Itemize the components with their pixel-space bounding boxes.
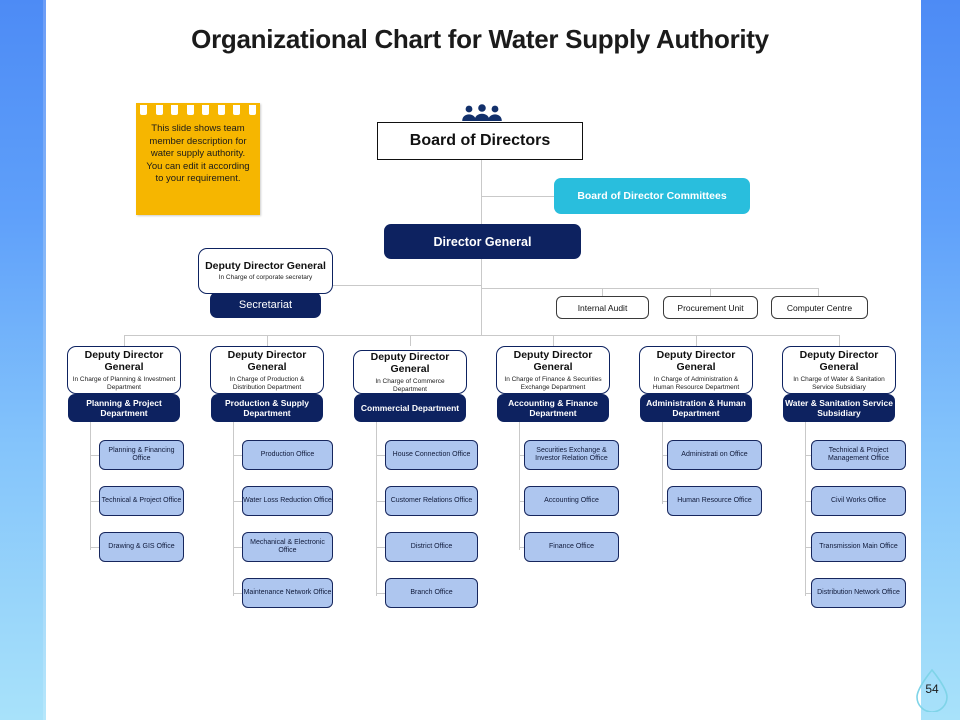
slide-canvas: Organizational Chart for Water Supply Au… bbox=[0, 0, 960, 720]
ddg-title-col-5: Deputy Director General bbox=[644, 349, 748, 374]
connector-col-drop-1 bbox=[124, 335, 125, 346]
connector-col-drop-6 bbox=[839, 335, 840, 346]
connector-dg-trunk bbox=[481, 259, 482, 335]
ddg-secretariat-node[interactable]: Deputy Director General In Charge of cor… bbox=[198, 248, 333, 294]
board-of-directors-node[interactable]: Board of Directors bbox=[377, 122, 583, 160]
left-gradient-bar bbox=[0, 0, 43, 720]
ddg-title-col-2: Deputy Director General bbox=[215, 349, 319, 374]
people-group-icon bbox=[460, 104, 504, 122]
connector-spine-col-3 bbox=[376, 422, 377, 596]
office-label: Branch Office bbox=[410, 589, 452, 598]
board-committees-label: Board of Director Committees bbox=[577, 190, 726, 202]
unit-procurement[interactable]: Procurement Unit bbox=[663, 296, 758, 319]
dept-banner-col-2[interactable]: Production & Supply Department bbox=[211, 394, 323, 422]
secretariat-node[interactable]: Secretariat bbox=[210, 292, 321, 318]
office-label: Civil Works Office bbox=[831, 497, 886, 506]
connector-dg-to-units-bus bbox=[481, 288, 819, 289]
office-label: Mechanical & Electronic Office bbox=[243, 539, 332, 556]
office-label: Technical & Project Office bbox=[102, 497, 182, 506]
office-label: Human Resource Office bbox=[677, 497, 752, 506]
ddg-card-col-3[interactable]: Deputy Director General In Charge of Com… bbox=[353, 350, 467, 394]
connector-spine-col-2 bbox=[233, 422, 234, 596]
board-of-directors-label: Board of Directors bbox=[410, 132, 550, 150]
sticky-note-teeth bbox=[136, 103, 260, 117]
office-label: Planning & Financing Office bbox=[100, 447, 183, 464]
unit-internal-audit[interactable]: Internal Audit bbox=[556, 296, 649, 319]
ddg-card-col-1[interactable]: Deputy Director General In Charge of Pla… bbox=[67, 346, 181, 394]
ddg-title-col-3: Deputy Director General bbox=[358, 351, 462, 376]
office-label: Accounting Office bbox=[544, 497, 599, 506]
connector-board-to-dg bbox=[481, 160, 482, 224]
director-general-label: Director General bbox=[434, 235, 532, 249]
ddg-subtitle-col-1: In Charge of Planning & Investment Depar… bbox=[72, 376, 176, 392]
office-label: Technical & Project Management Office bbox=[812, 447, 905, 464]
ddg-card-col-6[interactable]: Deputy Director General In Charge of Wat… bbox=[782, 346, 896, 394]
connector-unit-drop-3 bbox=[818, 288, 819, 296]
ddg-title-col-6: Deputy Director General bbox=[787, 349, 891, 374]
office-box[interactable]: District Office bbox=[385, 532, 478, 562]
dept-banner-col-6[interactable]: Water & Sanitation Service Subsidiary bbox=[783, 394, 895, 422]
dept-label-col-5: Administration & Human Department bbox=[640, 398, 752, 419]
ddg-card-col-4[interactable]: Deputy Director General In Charge of Fin… bbox=[496, 346, 610, 394]
office-label: Transmission Main Office bbox=[819, 543, 898, 552]
connector-spine-col-1 bbox=[90, 422, 91, 550]
connector-col-drop-5 bbox=[696, 335, 697, 346]
office-box[interactable]: Planning & Financing Office bbox=[99, 440, 184, 470]
office-label: Customer Relations Office bbox=[391, 497, 473, 506]
sticky-note: This slide shows team member description… bbox=[136, 103, 260, 215]
office-label: House Connection Office bbox=[393, 451, 471, 460]
office-box[interactable]: Branch Office bbox=[385, 578, 478, 608]
office-box[interactable]: Drawing & GIS Office bbox=[99, 532, 184, 562]
ddg-card-col-2[interactable]: Deputy Director General In Charge of Pro… bbox=[210, 346, 324, 394]
sticky-note-text: This slide shows team member description… bbox=[142, 123, 254, 186]
office-box[interactable]: Water Loss Reduction Office bbox=[242, 486, 333, 516]
unit-internal-audit-label: Internal Audit bbox=[578, 303, 628, 313]
ddg-subtitle-col-5: In Charge of Administration & Human Reso… bbox=[644, 376, 748, 392]
office-box[interactable]: Finance Office bbox=[524, 532, 619, 562]
dept-banner-col-3[interactable]: Commercial Department bbox=[354, 394, 466, 422]
office-box[interactable]: Customer Relations Office bbox=[385, 486, 478, 516]
office-label: Securities Exchange & Investor Relation … bbox=[525, 447, 618, 464]
office-box[interactable]: Accounting Office bbox=[524, 486, 619, 516]
dept-banner-col-1[interactable]: Planning & Project Department bbox=[68, 394, 180, 422]
office-box[interactable]: House Connection Office bbox=[385, 440, 478, 470]
office-label: Water Loss Reduction Office bbox=[243, 497, 332, 506]
dept-banner-col-4[interactable]: Accounting & Finance Department bbox=[497, 394, 609, 422]
ddg-title-col-1: Deputy Director General bbox=[72, 349, 176, 374]
office-box[interactable]: Human Resource Office bbox=[667, 486, 762, 516]
office-box[interactable]: Administrati on Office bbox=[667, 440, 762, 470]
connector-col-drop-2 bbox=[267, 335, 268, 346]
office-box[interactable]: Civil Works Office bbox=[811, 486, 906, 516]
dept-label-col-6: Water & Sanitation Service Subsidiary bbox=[783, 398, 895, 419]
office-label: Production Office bbox=[261, 451, 315, 460]
ddg-title-col-4: Deputy Director General bbox=[501, 349, 605, 374]
office-box[interactable]: Transmission Main Office bbox=[811, 532, 906, 562]
unit-procurement-label: Procurement Unit bbox=[677, 303, 743, 313]
secretariat-label: Secretariat bbox=[239, 300, 292, 311]
office-label: Distribution Network Office bbox=[817, 589, 900, 598]
office-label: District Office bbox=[411, 543, 453, 552]
ddg-subtitle-col-3: In Charge of Commerce Department bbox=[358, 378, 462, 394]
office-box[interactable]: Securities Exchange & Investor Relation … bbox=[524, 440, 619, 470]
dept-label-col-4: Accounting & Finance Department bbox=[497, 398, 609, 419]
office-label: Administrati on Office bbox=[681, 451, 747, 460]
office-label: Drawing & GIS Office bbox=[108, 543, 174, 552]
office-box[interactable]: Maintenance Network Office bbox=[242, 578, 333, 608]
dept-label-col-3: Commercial Department bbox=[361, 403, 459, 414]
board-committees-node[interactable]: Board of Director Committees bbox=[554, 178, 750, 214]
connector-spine-col-5 bbox=[662, 422, 663, 504]
left-gradient-bar-inner bbox=[43, 0, 46, 720]
ddg-subtitle-col-6: In Charge of Water & Sanitation Service … bbox=[787, 376, 891, 392]
page-number: 54 bbox=[913, 682, 951, 696]
dept-label-col-1: Planning & Project Department bbox=[68, 398, 180, 419]
connector-dg-to-secretariat bbox=[333, 285, 481, 286]
office-label: Maintenance Network Office bbox=[244, 589, 332, 598]
ddg-card-col-5[interactable]: Deputy Director General In Charge of Adm… bbox=[639, 346, 753, 394]
connector-unit-drop-1 bbox=[602, 288, 603, 296]
connector-columns-bus bbox=[124, 335, 840, 336]
office-box[interactable]: Technical & Project Office bbox=[99, 486, 184, 516]
page-title: Organizational Chart for Water Supply Au… bbox=[60, 24, 900, 55]
connector-spine-col-4 bbox=[519, 422, 520, 550]
connector-board-to-committee bbox=[481, 196, 554, 197]
connector-unit-drop-2 bbox=[710, 288, 711, 296]
dept-banner-col-5[interactable]: Administration & Human Department bbox=[640, 394, 752, 422]
right-gradient-bar bbox=[921, 0, 960, 720]
office-box[interactable]: Mechanical & Electronic Office bbox=[242, 532, 333, 562]
office-box[interactable]: Production Office bbox=[242, 440, 333, 470]
office-box[interactable]: Technical & Project Management Office bbox=[811, 440, 906, 470]
ddg-subtitle-col-4: In Charge of Finance & Securities Exchan… bbox=[501, 376, 605, 392]
ddg-subtitle-col-2: In Charge of Production & Distribution D… bbox=[215, 376, 319, 392]
ddg-secretariat-title: Deputy Director General bbox=[205, 260, 326, 273]
director-general-node[interactable]: Director General bbox=[384, 224, 581, 259]
dept-label-col-2: Production & Supply Department bbox=[211, 398, 323, 419]
office-box[interactable]: Distribution Network Office bbox=[811, 578, 906, 608]
connector-spine-col-6 bbox=[805, 422, 806, 596]
page-number-droplet: 54 bbox=[913, 668, 951, 712]
office-label: Finance Office bbox=[549, 543, 594, 552]
connector-col-drop-3 bbox=[410, 335, 411, 346]
connector-col-drop-4 bbox=[553, 335, 554, 346]
unit-computer-centre-label: Computer Centre bbox=[787, 303, 852, 313]
ddg-secretariat-subtitle: In Charge of corporate secretary bbox=[219, 274, 313, 282]
unit-computer-centre[interactable]: Computer Centre bbox=[771, 296, 868, 319]
